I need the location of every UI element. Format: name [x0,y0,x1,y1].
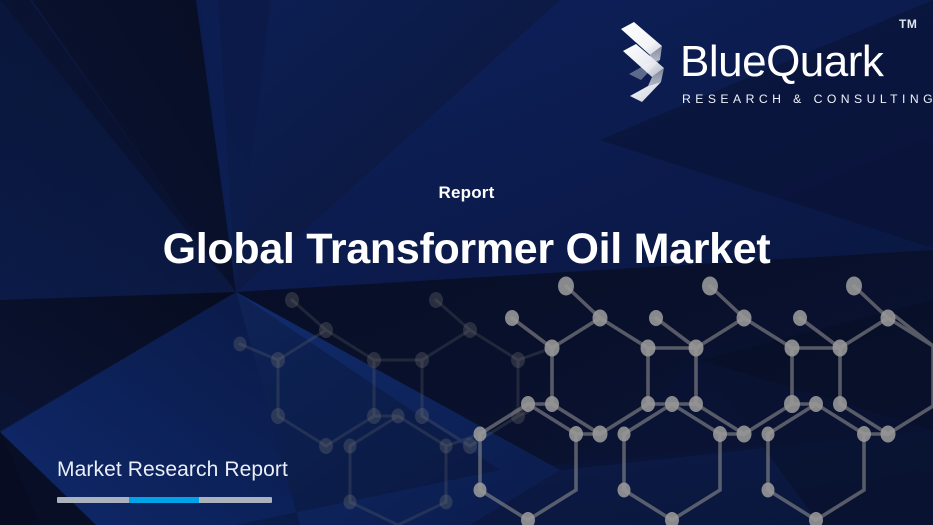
footer-group: Market Research Report [57,457,387,503]
brand-wordmark: BlueQuark [680,36,920,88]
footer-label: Market Research Report [57,457,387,483]
brand-wordmark-group: BlueQuark RESEARCH & CONSULTING [680,14,920,106]
accent-bar-segment-3 [199,497,272,503]
accent-bar-segment-2 [129,497,199,503]
report-kicker: Report [0,182,933,204]
trademark-symbol: TM [899,18,917,30]
accent-bar [57,497,272,503]
bluequark-chevron-mark [614,20,676,105]
page-title: Global Transformer Oil Market [0,221,933,277]
brand-tagline: RESEARCH & CONSULTING [682,92,920,106]
report-cover-page: BlueQuark RESEARCH & CONSULTING TM Repor… [0,0,933,525]
accent-bar-segment-1 [57,497,129,503]
title-group: Report Global Transformer Oil Market [0,182,933,277]
brand-logo: BlueQuark RESEARCH & CONSULTING TM [614,14,919,109]
